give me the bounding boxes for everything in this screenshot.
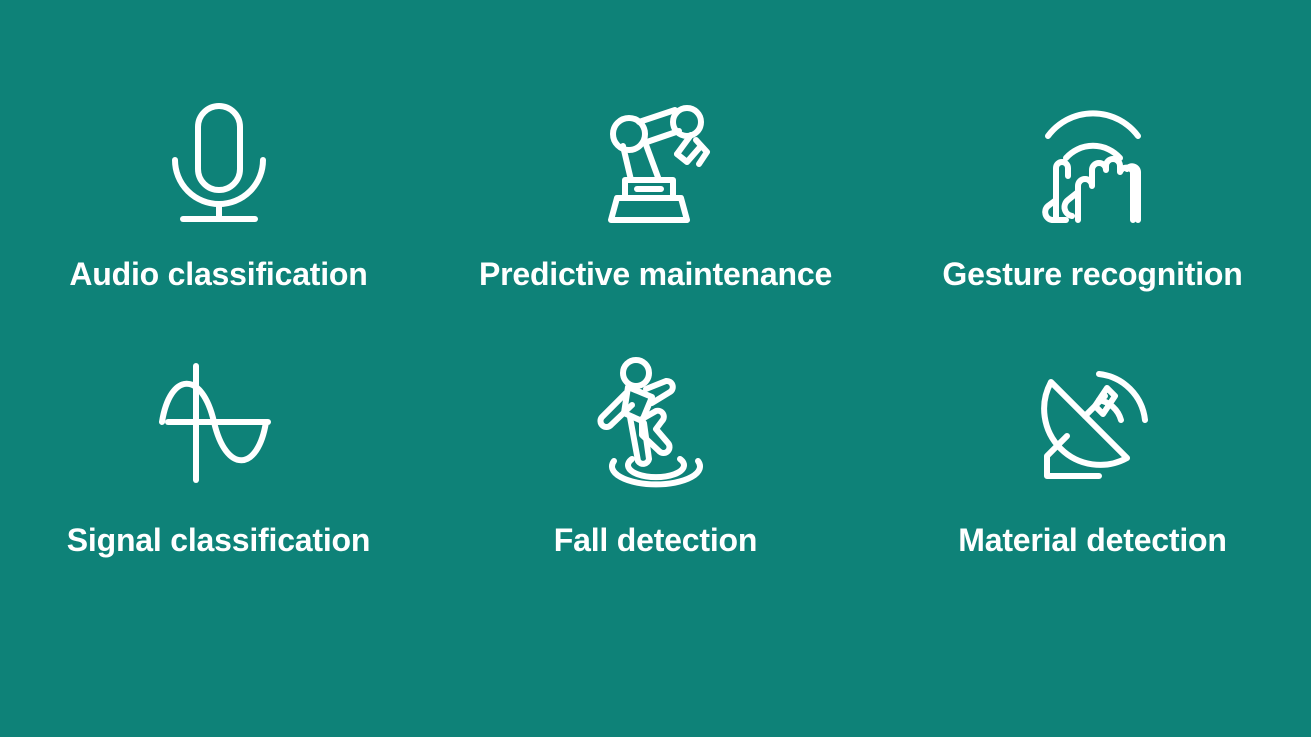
use-case-label: Signal classification xyxy=(67,522,370,559)
use-case-card-material-detection[interactable]: Material detection xyxy=(874,318,1311,576)
use-case-card-fall-detection[interactable]: Fall detection xyxy=(437,318,874,576)
use-case-card-signal-classification[interactable]: Signal classification xyxy=(0,318,437,576)
bottom-spacer xyxy=(0,576,1311,737)
use-case-card-gesture-recognition[interactable]: Gesture recognition xyxy=(874,60,1311,318)
waving-hand-signal-icon xyxy=(1018,94,1168,234)
use-case-label: Gesture recognition xyxy=(942,256,1242,293)
use-case-grid: Audio classification xyxy=(0,0,1311,737)
falling-person-ripple-icon xyxy=(581,352,731,492)
microphone-icon xyxy=(144,94,294,234)
use-case-card-predictive-maintenance[interactable]: Predictive maintenance xyxy=(437,60,874,318)
top-spacer xyxy=(0,0,1311,60)
use-case-card-audio-classification[interactable]: Audio classification xyxy=(0,60,437,318)
use-case-label: Predictive maintenance xyxy=(479,256,832,293)
sine-wave-axes-icon xyxy=(144,352,294,492)
use-case-label: Fall detection xyxy=(554,522,757,559)
slide-canvas: Audio classification xyxy=(0,0,1311,737)
robot-arm-icon xyxy=(581,94,731,234)
satellite-dish-icon xyxy=(1018,352,1168,492)
use-case-label: Audio classification xyxy=(69,256,367,293)
use-case-label: Material detection xyxy=(958,522,1226,559)
